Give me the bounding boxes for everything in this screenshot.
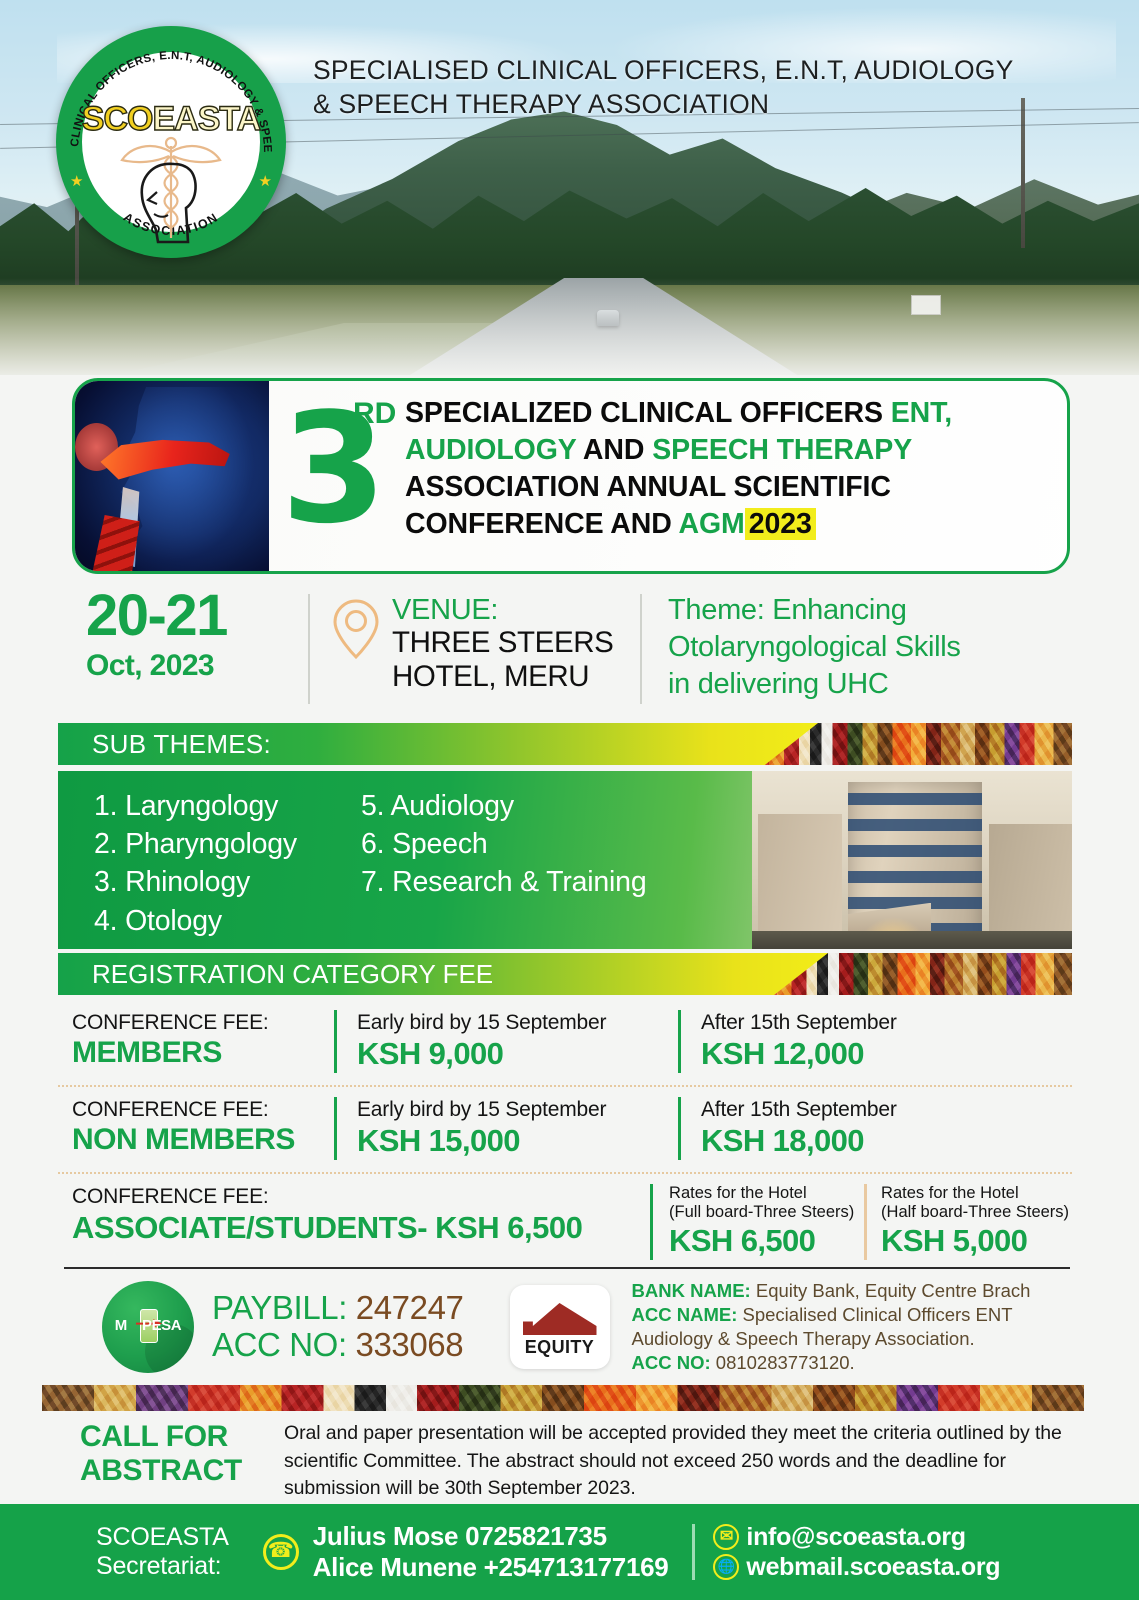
fee-cell-value: KSH 5,000: [881, 1222, 1072, 1260]
fee-cell-after-deadline: After 15th September KSH 12,000: [678, 1010, 1008, 1073]
secretariat-contacts: Julius Mose 0725821735 Alice Munene +254…: [313, 1521, 669, 1583]
paybill-line: PAYBILL: 247247: [212, 1290, 464, 1327]
footer-webmail-row[interactable]: webmail.scoeasta.org: [713, 1552, 1000, 1582]
event-date: 20-21 Oct, 2023: [72, 588, 308, 710]
mpesa-logo-m: M: [115, 1317, 127, 1334]
footer-divider: [692, 1524, 695, 1580]
logo-star-left: ★: [70, 172, 83, 190]
fee-category: CONFERENCE FEE: ASSOCIATE/STUDENTS- KSH …: [58, 1184, 636, 1260]
registration-fee-table: CONFERENCE FEE: MEMBERS Early bird by 15…: [58, 1000, 1072, 1272]
fee-cell-value: KSH 9,000: [357, 1035, 664, 1073]
fee-category: CONFERENCE FEE: MEMBERS: [58, 1010, 320, 1073]
mpesa-acc-label: ACC NO:: [212, 1326, 347, 1363]
sub-themes-column-1: 1. Laryngology 2. Pharyngology 3. Rhinol…: [94, 787, 297, 940]
fee-cell-after-deadline: After 15th September KSH 18,000: [678, 1097, 1008, 1160]
contact-person-1[interactable]: Julius Mose 0725821735: [313, 1521, 669, 1552]
footer-contact-bar: SCOEASTA Secretariat: Julius Mose 072582…: [0, 1504, 1139, 1600]
acc-name-line: ACC NAME: Specialised Clinical Officers …: [632, 1303, 1031, 1327]
footer-email[interactable]: info@scoeasta.org: [746, 1522, 965, 1552]
fee-category: CONFERENCE FEE: NON MEMBERS: [58, 1097, 320, 1160]
bank-name-label: BANK NAME:: [632, 1280, 751, 1301]
fee-cell-early-bird: Early bird by 15 September KSH 9,000: [334, 1010, 664, 1073]
fee-cell-label: Early bird by 15 September: [357, 1010, 664, 1035]
conference-poster: SPECIALISED CLINICAL OFFICERS, E.N.T, AU…: [0, 0, 1139, 1600]
hotel-rate-label-line2: (Half board-Three Steers): [881, 1203, 1072, 1222]
fee-cell-value: KSH 15,000: [357, 1122, 664, 1160]
event-info-row: 20-21 Oct, 2023 VENUE: THREE STEERS HOTE…: [72, 588, 1072, 710]
fee-cell-label: After 15th September: [701, 1010, 1008, 1035]
title-line1-black: SPECIALIZED CLINICAL OFFICERS: [405, 397, 891, 429]
mpesa-logo-icon: M PESA: [102, 1281, 194, 1373]
theme-line1: Theme: Enhancing: [668, 592, 961, 629]
registration-header: REGISTRATION CATEGORY FEE: [58, 953, 1072, 995]
venue-line1: THREE STEERS: [392, 626, 613, 659]
acc-name-label: ACC NAME:: [632, 1304, 738, 1325]
title-line1-green: ENT,: [891, 397, 952, 429]
sub-theme-item: 7. Research & Training: [361, 863, 647, 901]
theme-line2: Otolaryngological Skills: [668, 629, 961, 666]
secretariat-line2: Secretariat:: [96, 1552, 229, 1581]
hotel-photo: [752, 771, 1072, 949]
fee-cell-value: KSH 12,000: [701, 1035, 1008, 1073]
ent-anatomy-illustration: [73, 379, 269, 574]
title-line-3: ASSOCIATION ANNUAL SCIENTIFIC: [405, 469, 1055, 506]
title-line-4: CONFERENCE AND AGM2023: [405, 506, 1055, 543]
fee-cell-hotel-full-board: Rates for the Hotel (Full board-Three St…: [650, 1184, 858, 1260]
fee-category-value: ASSOCIATE/STUDENTS- KSH 6,500: [72, 1209, 636, 1247]
equity-logo-text: EQUITY: [510, 1337, 610, 1358]
sub-theme-item: 2. Pharyngology: [94, 825, 297, 863]
acc-name-value1: Specialised Clinical Officers ENT: [743, 1304, 1013, 1325]
sub-themes-heading: SUB THEMES:: [92, 729, 271, 760]
equity-roof-icon: [523, 1303, 597, 1335]
footer-email-row[interactable]: info@scoeasta.org: [713, 1522, 1000, 1552]
fee-cell-label: After 15th September: [701, 1097, 1008, 1122]
registration-heading: REGISTRATION CATEGORY FEE: [92, 959, 493, 990]
organisation-name-line2: & SPEECH THERAPY ASSOCIATION: [313, 88, 1073, 122]
theme-line3: in delivering UHC: [668, 666, 961, 703]
sub-theme-item: 6. Speech: [361, 825, 647, 863]
organisation-name-line1: SPECIALISED CLINICAL OFFICERS, E.N.T, AU…: [313, 54, 1073, 88]
hotel-wing-left: [758, 814, 841, 949]
bank-acc-value: 0810283773120.: [716, 1352, 855, 1373]
payment-divider: [64, 1267, 1070, 1269]
scoeasta-logo: SPECIALISED CLINICAL OFFICERS, E.N.T, AU…: [56, 26, 286, 258]
title-line2-speech-therapy: SPEECH THERAPY: [652, 434, 912, 466]
event-date-days: 20-21: [86, 588, 308, 645]
fee-category-label: CONFERENCE FEE:: [72, 1010, 320, 1035]
mpesa-acc-line: ACC NO: 333068: [212, 1327, 464, 1364]
edition-ordinal: RD: [353, 397, 396, 431]
conference-title-text: SPECIALIZED CLINICAL OFFICERS ENT, AUDIO…: [405, 395, 1055, 543]
event-venue: VENUE: THREE STEERS HOTEL, MERU: [310, 588, 640, 710]
bank-acc-line: ACC NO: 0810283773120.: [632, 1351, 1031, 1375]
title-line2-and: AND: [576, 434, 652, 466]
conference-title-banner: 3 RD SPECIALIZED CLINICAL OFFICERS ENT, …: [72, 378, 1070, 574]
venue-line2: HOTEL, MERU: [392, 660, 613, 693]
title-line4-black: CONFERENCE AND: [405, 508, 678, 540]
fee-category-label: CONFERENCE FEE:: [72, 1097, 320, 1122]
bank-details-text: BANK NAME: Equity Bank, Equity Centre Br…: [632, 1279, 1031, 1375]
logo-acronym: SCOEASTA: [56, 102, 286, 136]
title-line-1: SPECIALIZED CLINICAL OFFICERS ENT,: [405, 395, 1055, 432]
event-date-month-year: Oct, 2023: [86, 649, 308, 683]
fee-category-value: NON MEMBERS: [72, 1122, 320, 1159]
fee-row-members: CONFERENCE FEE: MEMBERS Early bird by 15…: [58, 1000, 1072, 1087]
mpesa-logo-pesa: PESA: [142, 1317, 181, 1334]
payment-details-row: M PESA PAYBILL: 247247 ACC NO: 333068 EQ…: [58, 1278, 1072, 1376]
location-pin-icon: [332, 598, 380, 660]
logo-star-right: ★: [259, 172, 272, 190]
sub-themes-body: 1. Laryngology 2. Pharyngology 3. Rhinol…: [58, 771, 1072, 949]
phone-icon: [263, 1534, 299, 1570]
sub-theme-item: 4. Otology: [94, 902, 297, 940]
venue-label: VENUE:: [392, 594, 613, 626]
secretariat-label: SCOEASTA Secretariat:: [96, 1523, 229, 1581]
title-year-highlight: 2023: [745, 508, 816, 540]
bank-acc-label: ACC NO:: [632, 1352, 711, 1373]
secretariat-line1: SCOEASTA: [96, 1523, 229, 1552]
cfa-paragraph: Oral and paper presentation will be acce…: [284, 1420, 1072, 1503]
hotel-rate-label-line1: Rates for the Hotel: [881, 1184, 1072, 1203]
cfa-title-line1: CALL FOR: [80, 1420, 284, 1454]
globe-icon: [713, 1554, 739, 1580]
caduceus-head-icon: [112, 134, 230, 246]
fee-category-label: CONFERENCE FEE:: [72, 1184, 636, 1209]
sub-theme-item: 3. Rhinology: [94, 863, 297, 901]
logo-acronym-part2: EASTA: [152, 100, 260, 138]
acc-name-value2: Audiology & Speech Therapy Association.: [632, 1327, 1031, 1351]
cfa-title-line2: ABSTRACT: [80, 1454, 284, 1488]
fee-cell-label: Early bird by 15 September: [357, 1097, 664, 1122]
hotel-ground: [752, 931, 1072, 949]
sub-theme-item: 5. Audiology: [361, 787, 647, 825]
bank-name-line: BANK NAME: Equity Bank, Equity Centre Br…: [632, 1279, 1031, 1303]
sub-themes-column-2: 5. Audiology 6. Speech 7. Research & Tra…: [361, 787, 647, 940]
footer-online-contacts: info@scoeasta.org webmail.scoeasta.org: [713, 1522, 1000, 1582]
footer-webmail[interactable]: webmail.scoeasta.org: [746, 1552, 1000, 1582]
fee-cell-value: KSH 6,500: [669, 1222, 858, 1260]
title-line2-audiology: AUDIOLOGY: [405, 434, 576, 466]
event-theme: Theme: Enhancing Otolaryngological Skill…: [642, 588, 961, 710]
mpesa-acc-value: 333068: [356, 1326, 464, 1363]
fee-cell-hotel-half-board: Rates for the Hotel (Half board-Three St…: [864, 1184, 1072, 1260]
fee-cell-value: KSH 18,000: [701, 1122, 1008, 1160]
paybill-label: PAYBILL:: [212, 1289, 347, 1326]
mpesa-logo-text: M PESA: [102, 1317, 194, 1334]
venue-text: VENUE: THREE STEERS HOTEL, MERU: [392, 594, 613, 693]
equity-bank-logo-icon: EQUITY: [510, 1285, 610, 1369]
title-line4-agm: AGM: [678, 508, 744, 540]
bank-name-value: Equity Bank, Equity Centre Brach: [756, 1280, 1031, 1301]
contact-person-2[interactable]: Alice Munene +254713177169: [313, 1552, 669, 1583]
mpesa-payment-text: PAYBILL: 247247 ACC NO: 333068: [212, 1290, 464, 1364]
fabric-divider-strip: [42, 1385, 1084, 1411]
sub-theme-item: 1. Laryngology: [94, 787, 297, 825]
sub-themes-list: 1. Laryngology 2. Pharyngology 3. Rhinol…: [94, 787, 710, 940]
fee-row-associate-students: CONFERENCE FEE: ASSOCIATE/STUDENTS- KSH …: [58, 1174, 1072, 1272]
hero-fade: [0, 278, 1139, 376]
fee-cell-early-bird: Early bird by 15 September KSH 15,000: [334, 1097, 664, 1160]
title-line-2: AUDIOLOGY AND SPEECH THERAPY: [405, 432, 1055, 469]
logo-acronym-part1: SCO: [82, 100, 153, 138]
sub-themes-header: SUB THEMES:: [58, 723, 1072, 765]
envelope-icon: [713, 1524, 739, 1550]
hotel-rate-label-line1: Rates for the Hotel: [669, 1184, 858, 1203]
fee-category-value: MEMBERS: [72, 1035, 320, 1072]
organisation-name: SPECIALISED CLINICAL OFFICERS, E.N.T, AU…: [313, 54, 1073, 121]
paybill-value: 247247: [356, 1289, 464, 1326]
hotel-rate-label-line2: (Full board-Three Steers): [669, 1203, 858, 1222]
fee-row-non-members: CONFERENCE FEE: NON MEMBERS Early bird b…: [58, 1087, 1072, 1174]
